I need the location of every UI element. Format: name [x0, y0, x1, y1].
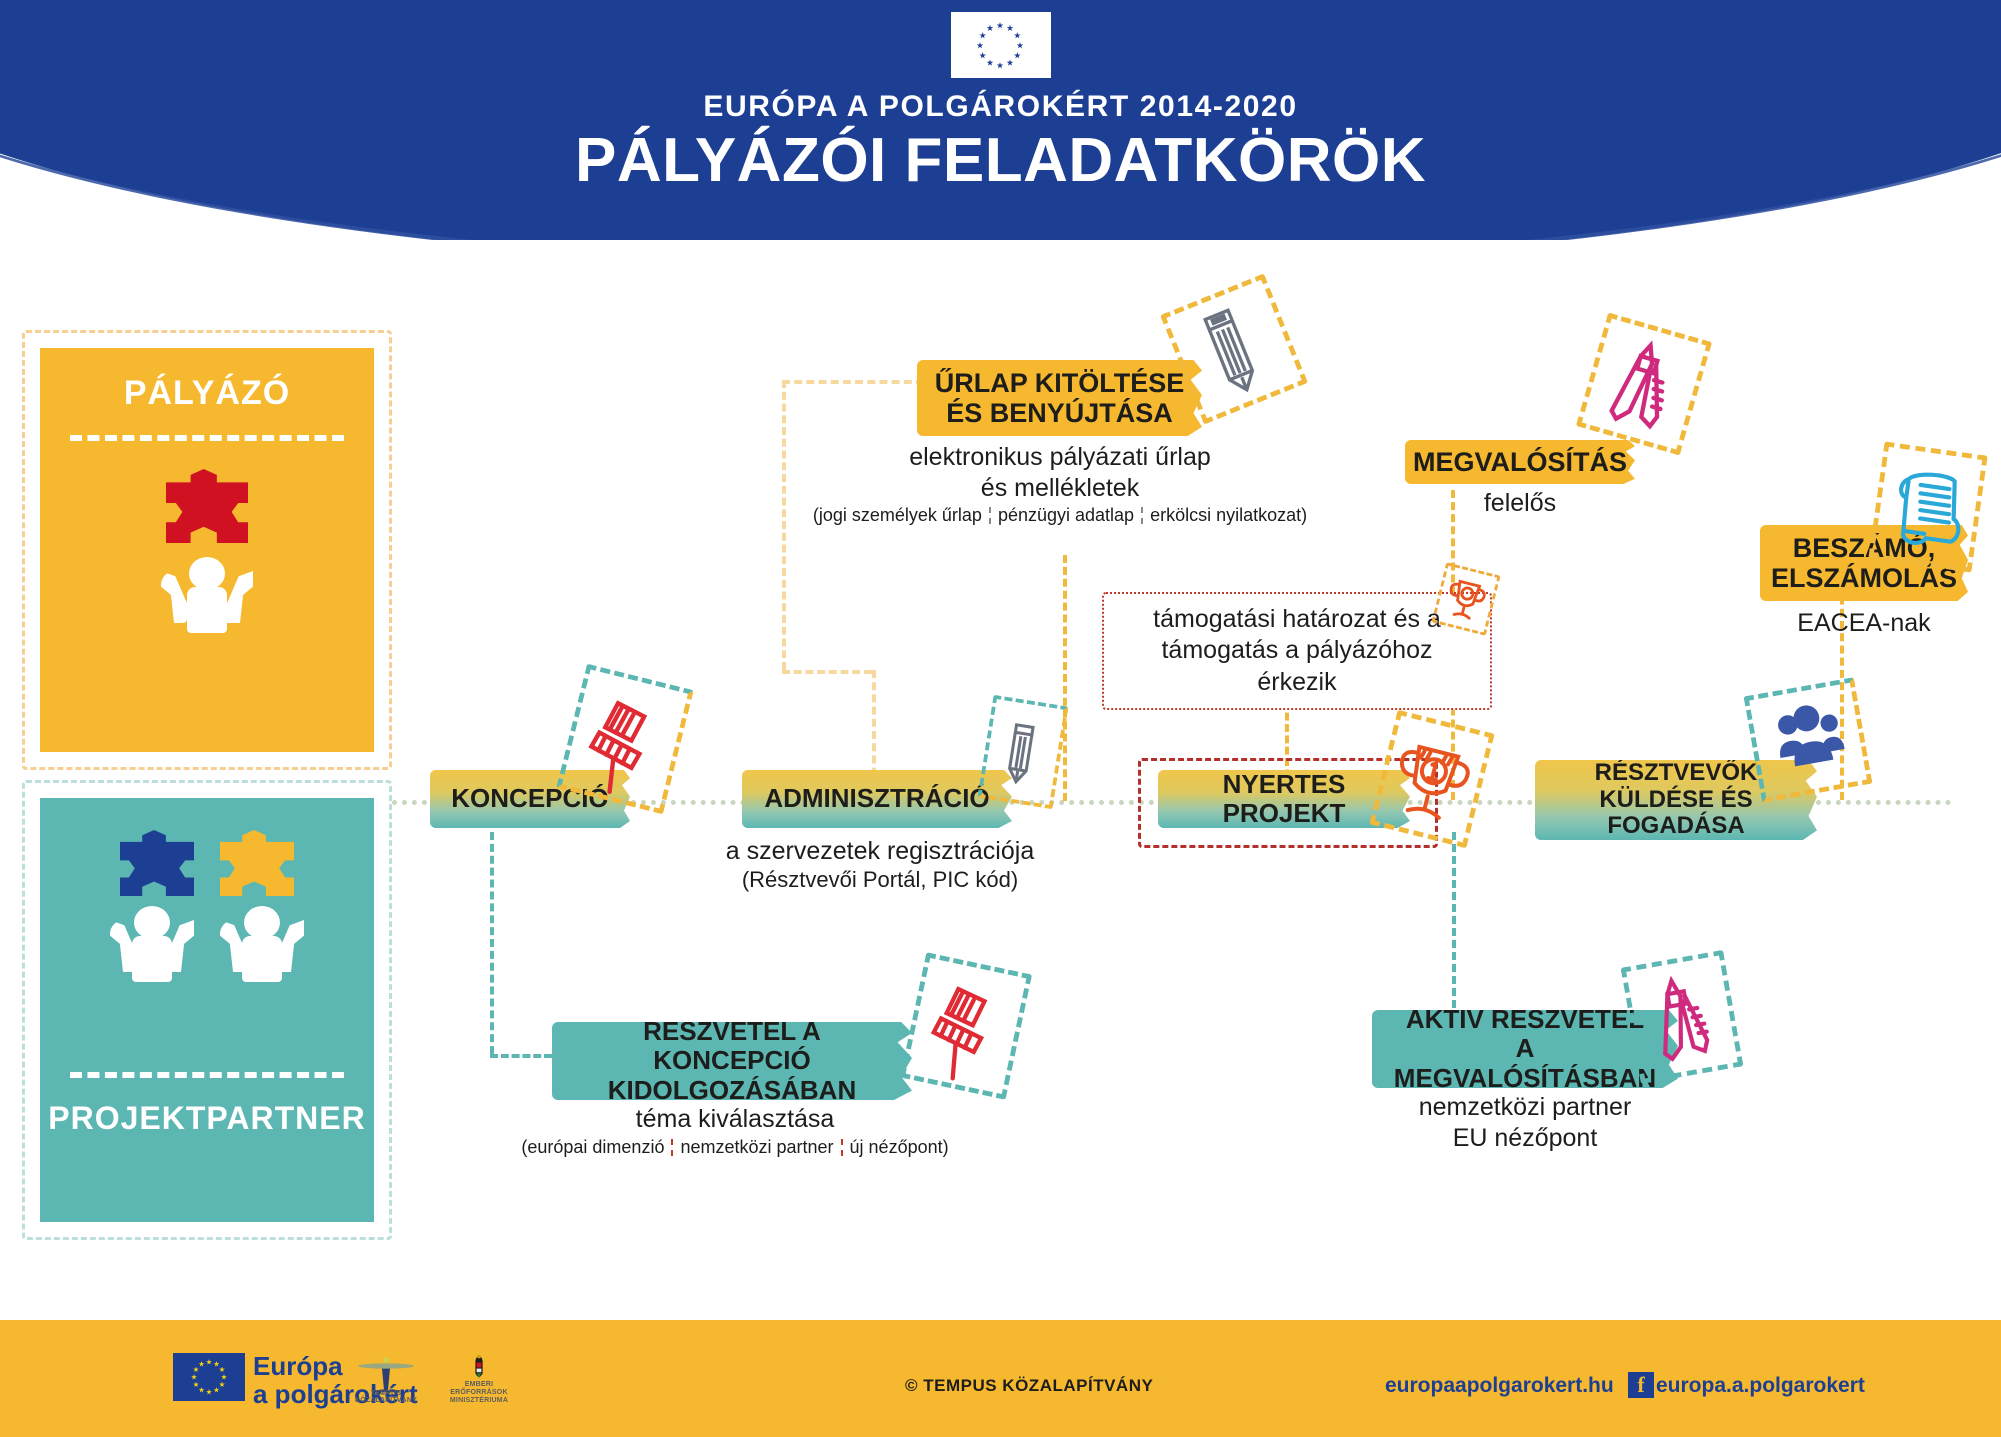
reszvetel-detail-3: új nézőpont) — [850, 1137, 949, 1157]
beszamo-sub: EACEA-nak — [1760, 608, 1968, 639]
connector-koncepcio-down — [490, 832, 494, 1054]
reszvetel-detail-1: (európai dimenzió — [521, 1137, 664, 1157]
beszamo-subtext: EACEA-nak — [1760, 608, 1968, 639]
urlap-sub-line2: és mellékletek — [800, 473, 1320, 504]
eu-star — [206, 1359, 212, 1365]
copyright-text: © TEMPUS KÖZALAPÍTVÁNY — [905, 1376, 1153, 1396]
badge-urlap-kitoltese[interactable]: ŰRLAP KITÖLTÉSE ÉS BENYÚJTÁSA — [917, 360, 1202, 436]
reszvetel-sub: téma kiválasztása — [490, 1104, 980, 1135]
connector-urlap-top — [782, 380, 924, 384]
applicant-divider — [70, 435, 344, 441]
partner-divider — [70, 1072, 344, 1078]
puzzle-piece-icon — [220, 830, 294, 896]
eu-star — [979, 32, 986, 39]
badge-beszamo-line2: ELSZÁMOLÁS — [1771, 563, 1957, 593]
badge-aktiv-line1: AKTÍV RÉSZVÉTEL — [1406, 1005, 1644, 1034]
badge-resztvevok-line1: RÉSZTVEVŐK — [1595, 760, 1758, 787]
compass-icon — [1576, 312, 1712, 455]
badge-reszvetel-line1: RÉSZVÉTEL A KONCEPCIÓ — [568, 1017, 896, 1075]
sidebar-card-applicant: PÁLYÁZÓ — [22, 330, 392, 770]
badge-adminisztracio[interactable]: ADMINISZTRÁCIÓ — [742, 770, 1012, 828]
sticker-compass-aktiv — [1621, 950, 1744, 1084]
eu-star — [219, 1382, 225, 1388]
aktiv-subtext: nemzetközi partner EU nézőpont — [1372, 1092, 1678, 1153]
admin-sub-line2: (Résztvevői Portál, PIC kód) — [700, 867, 1060, 894]
eu-star — [977, 42, 984, 49]
partner-puzzle-row — [120, 830, 294, 896]
badge-megvalositas[interactable]: MEGVALÓSÍTÁS — [1405, 440, 1635, 484]
puzzle-piece-icon — [120, 830, 194, 896]
urlap-detail-3: erkölcsi nyilatkozat) — [1150, 505, 1307, 525]
eu-star — [987, 25, 994, 32]
sticker-compass-megvalositas — [1576, 312, 1712, 455]
sticker-pencil-adminisztracio — [977, 695, 1068, 810]
badge-urlap-line1: ŰRLAP KITÖLTÉSE — [935, 368, 1185, 398]
divider-icon — [841, 1139, 843, 1156]
eu-star — [1017, 42, 1024, 49]
person-icon — [159, 557, 255, 633]
partner-title: PROJEKTPARTNER — [48, 1100, 365, 1137]
urlap-detail-row: (jogi személyek űrlappénzügyi adatlaperk… — [800, 505, 1320, 527]
megvalositas-sub: felelős — [1405, 488, 1635, 519]
eu-star — [199, 1387, 205, 1393]
pencil-icon — [977, 695, 1068, 810]
sticker-scroll-beszamo — [1868, 441, 1987, 572]
page-title: PÁLYÁZÓI FELADATKÖRÖK — [0, 125, 2001, 196]
tempus-logo: TEMPUS KÖZALAPÍTVÁNY — [345, 1354, 427, 1402]
header-kicker: EURÓPA A POLGÁROKÉRT 2014-2020 — [0, 90, 2001, 124]
eu-star — [979, 52, 986, 59]
sticker-pushpin-koncepcio — [556, 664, 694, 815]
badge-reszvetel-line2: KIDOLGOZÁSÁBAN — [608, 1076, 856, 1105]
divider-icon — [1141, 507, 1143, 524]
eu-flag-icon — [951, 12, 1051, 78]
eu-star — [997, 22, 1004, 29]
pushpin-icon — [556, 664, 694, 815]
eu-star — [1007, 59, 1014, 66]
urlap-sub-line1: elektronikus pályázati űrlap — [800, 442, 1320, 473]
reszvetel-detail-row: (európai dimenziónemzetközi partnerúj né… — [490, 1137, 980, 1159]
sticker-trophy-nyertes — [1369, 710, 1495, 849]
tempus-logo-caption: TEMPUS KÖZALAPÍTVÁNY — [345, 1390, 427, 1404]
applicant-title: PÁLYÁZÓ — [124, 374, 290, 413]
connector-urlap-right-down — [1063, 555, 1067, 801]
ministry-logo: EMBERI ERŐFORRÁSOK MINISZTÉRIUMA — [440, 1353, 518, 1403]
page-footer: Európa a polgárokért TEMPUS KÖZALAPÍTVÁN… — [0, 1320, 2001, 1437]
eu-star — [1007, 25, 1014, 32]
reszvetel-detail-2: nemzetközi partner — [680, 1137, 833, 1157]
eu-star — [1014, 32, 1021, 39]
eu-star — [219, 1367, 225, 1373]
eu-star — [206, 1389, 212, 1395]
applicant-panel: PÁLYÁZÓ — [40, 348, 374, 752]
badge-aktiv-line2: A MEGVALÓSÍTÁSBAN — [1388, 1034, 1662, 1092]
sidebar-card-partner: PROJEKTPARTNER — [22, 780, 392, 1240]
page-header: EURÓPA A POLGÁROKÉRT 2014-2020 PÁLYÁZÓI … — [0, 0, 2001, 240]
puzzle-piece-icon — [166, 469, 248, 543]
divider-icon — [989, 507, 991, 524]
aktiv-sub-line2: EU nézőpont — [1372, 1123, 1678, 1154]
sticker-people-resztvevok — [1743, 677, 1872, 803]
tamogatas-line2: támogatás a pályázóhoz érkezik — [1122, 635, 1472, 698]
reszvetel-subtext: téma kiválasztása (európai dimenziónemze… — [490, 1104, 980, 1158]
eu-star — [191, 1374, 197, 1380]
partner-person-row — [108, 906, 306, 976]
eu-star — [193, 1367, 199, 1373]
scroll-icon — [1868, 441, 1987, 572]
urlap-detail-1: (jogi személyek űrlap — [813, 505, 982, 525]
admin-sub-line1: a szervezetek regisztrációja — [700, 836, 1060, 867]
badge-nyertes-label: NYERTES PROJEKT — [1174, 770, 1394, 828]
megvalositas-subtext: felelős — [1405, 488, 1635, 519]
eu-star — [199, 1361, 205, 1367]
eu-star — [214, 1387, 220, 1393]
person-icon — [108, 906, 196, 976]
connector-urlap-bottom — [782, 670, 872, 674]
badge-urlap-line2: ÉS BENYÚJTÁSA — [946, 398, 1173, 428]
eu-flag-icon — [173, 1353, 245, 1401]
connector-koncepcio-bottom — [490, 1054, 552, 1058]
eu-star — [1014, 52, 1021, 59]
ministry-caption-2: MINISZTÉRIUMA — [450, 1397, 508, 1404]
eu-star — [193, 1382, 199, 1388]
facebook-icon[interactable]: f — [1628, 1372, 1654, 1398]
pushpin-icon — [900, 952, 1032, 1100]
eu-star — [221, 1374, 227, 1380]
connector-urlap-down — [782, 380, 786, 670]
eu-star — [987, 59, 994, 66]
aktiv-sub-line1: nemzetközi partner — [1372, 1092, 1678, 1123]
compass-icon — [1621, 950, 1744, 1084]
adminisztracio-subtext: a szervezetek regisztrációja (Résztvevői… — [700, 836, 1060, 893]
divider-icon — [671, 1139, 673, 1156]
website-link[interactable]: europaapolgarokert.hu — [1385, 1374, 1614, 1398]
urlap-subtext: elektronikus pályázati űrlap és mellékle… — [800, 442, 1320, 527]
ministry-caption-1: EMBERI ERŐFORRÁSOK — [450, 1381, 507, 1396]
urlap-detail-2: pénzügyi adatlap — [998, 505, 1134, 525]
connector-aktiv-up — [1452, 832, 1456, 1032]
ministry-logo-caption: EMBERI ERŐFORRÁSOK MINISZTÉRIUMA — [440, 1381, 518, 1405]
partner-panel: PROJEKTPARTNER — [40, 798, 374, 1222]
trophy-icon — [1369, 710, 1495, 849]
sticker-pushpin-reszvetel — [900, 952, 1032, 1100]
badge-adminisztracio-label: ADMINISZTRÁCIÓ — [764, 784, 989, 813]
people-group-icon — [1743, 677, 1872, 803]
tamogatas-line1: támogatási határozat és a — [1122, 604, 1472, 635]
person-icon — [218, 906, 306, 976]
eu-star — [214, 1361, 220, 1367]
facebook-link[interactable]: europa.a.polgarokert — [1656, 1374, 1865, 1398]
badge-megvalositas-label: MEGVALÓSÍTÁS — [1413, 447, 1627, 477]
badge-reszvetel-koncepcio[interactable]: RÉSZVÉTEL A KONCEPCIÓ KIDOLGOZÁSÁBAN — [552, 1022, 912, 1100]
tempus-mark-icon — [345, 1354, 427, 1394]
eu-star — [997, 62, 1004, 69]
